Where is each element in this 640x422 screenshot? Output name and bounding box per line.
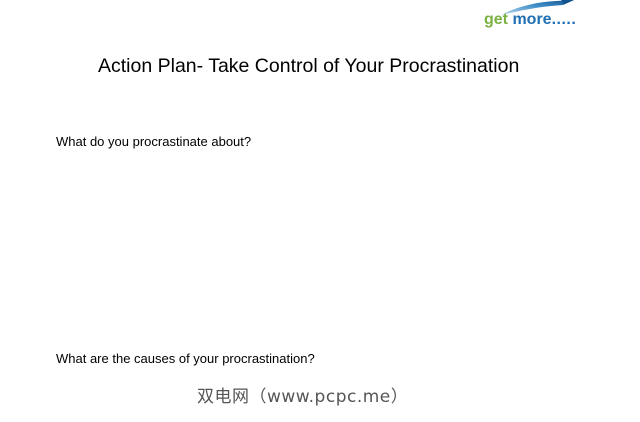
logo-dots-text: ..... [552,11,577,28]
slide-title: Action Plan- Take Control of Your Procra… [98,54,608,78]
answer-writing-area [56,155,576,345]
prompt-procrastinate-about: What do you procrastinate about? [56,133,251,151]
brand-logo: get more..... [478,0,638,36]
site-watermark: 双电网（www.pcpc.me） [197,386,408,408]
prompt-causes-of-procrastination: What are the causes of your procrastinat… [56,350,315,368]
presentation-slide: get more..... Action Plan- Take Control … [0,0,640,422]
logo-wordmark: get more..... [484,11,576,29]
logo-more-text: more [512,11,551,28]
logo-get-text: get [484,11,512,28]
